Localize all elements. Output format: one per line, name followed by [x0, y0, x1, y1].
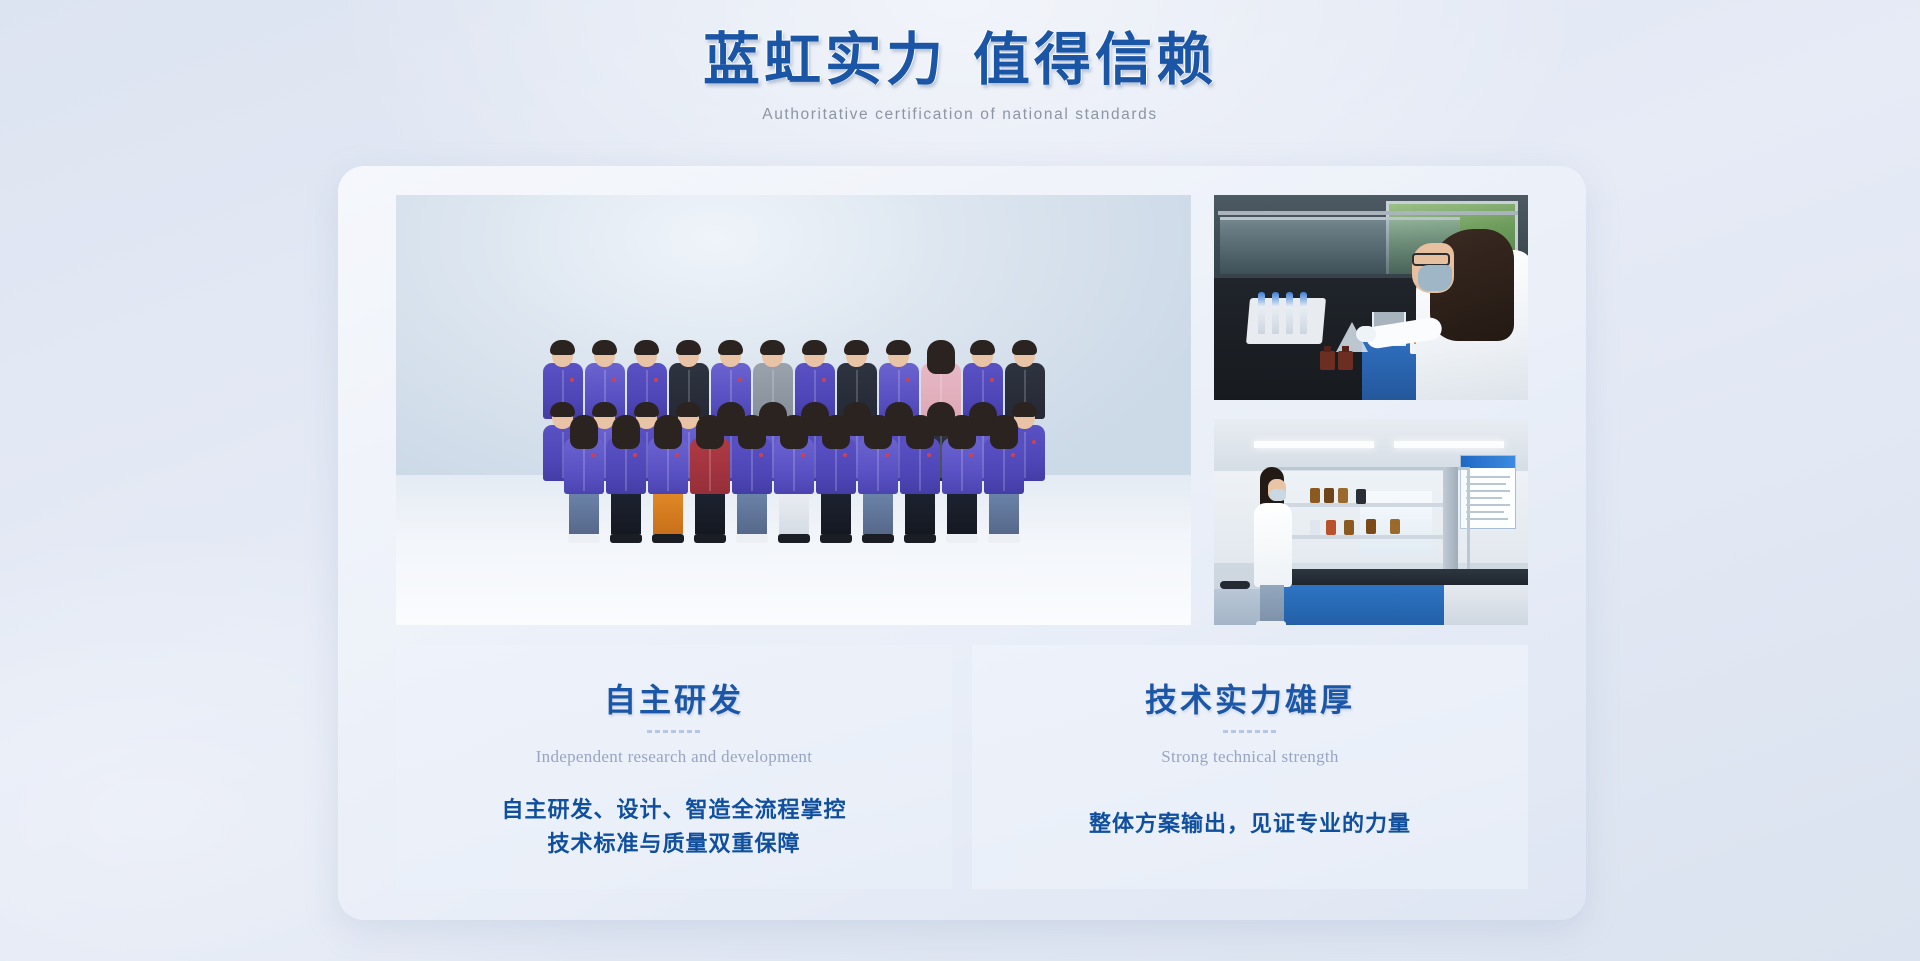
card-body-text: 整体方案输出，见证专业的力量	[972, 807, 1528, 841]
lab-bench	[1256, 569, 1528, 585]
white-cabinets	[1444, 585, 1528, 625]
technician-legs	[1260, 585, 1284, 623]
technician-shoes	[1256, 621, 1286, 625]
group-photo[interactable]	[396, 195, 1191, 625]
reagent-shelf	[1266, 535, 1458, 539]
ceiling-light	[1254, 441, 1374, 448]
card-body-line-2: 技术标准与质量双重保障	[396, 827, 952, 861]
people-row-front	[396, 418, 1191, 543]
reagent-bottle	[1324, 488, 1334, 503]
card-title: 自主研发	[396, 675, 952, 721]
reagent-bottle	[1356, 489, 1366, 504]
pipette	[1258, 292, 1265, 334]
blue-cabinets	[1276, 585, 1444, 625]
technician-hand	[1356, 326, 1376, 342]
lab-photo-column	[1214, 195, 1528, 625]
page-root: 蓝虹实力值得信赖 Authoritative certification of …	[0, 0, 1920, 961]
page-title-part2: 值得信赖	[973, 29, 1217, 92]
hood-post	[1443, 467, 1458, 579]
page-title-part1: 蓝虹实力	[703, 29, 947, 92]
pipette	[1272, 292, 1279, 334]
card-divider-dashes	[1223, 730, 1277, 733]
card-body-line-1: 自主研发、设计、智造全流程掌控	[396, 793, 952, 827]
card-divider-dashes	[647, 730, 701, 733]
reagent-bottle	[1326, 520, 1336, 535]
card-body-line-1: 整体方案输出，见证专业的力量	[972, 807, 1528, 841]
technician-lab-coat	[1254, 503, 1292, 587]
card-english-subtitle: Strong technical strength	[972, 747, 1528, 767]
ceiling-light	[1394, 441, 1504, 448]
lab-photo-bottom[interactable]	[1214, 419, 1528, 625]
card-title: 技术实力雄厚	[972, 675, 1528, 721]
face-mask-icon	[1418, 265, 1452, 291]
reagent-bottle	[1390, 519, 1400, 534]
card-body-text: 自主研发、设计、智造全流程掌控 技术标准与质量双重保障	[396, 793, 952, 861]
reagent-bottle	[1344, 520, 1354, 535]
reagent-bottle	[1366, 519, 1376, 534]
content-panel: 自主研发 Independent research and developmen…	[338, 166, 1586, 920]
face-mask-icon	[1270, 489, 1286, 501]
lab-rail	[1218, 211, 1518, 215]
lab-photo-top[interactable]	[1214, 195, 1528, 400]
group-photo-people	[396, 307, 1191, 537]
page-subtitle: Authoritative certification of national …	[0, 106, 1920, 124]
reagent-bottle	[1310, 488, 1320, 503]
lab-stool	[1220, 581, 1250, 589]
reagent-bottle	[1320, 351, 1335, 370]
reagent-bottle	[1338, 351, 1353, 370]
card-english-subtitle: Independent research and development	[396, 747, 952, 767]
pipette	[1286, 292, 1293, 334]
page-header: 蓝虹实力值得信赖 Authoritative certification of …	[0, 0, 1920, 124]
feature-card-technical-strength[interactable]: 技术实力雄厚 Strong technical strength 整体方案输出，…	[972, 645, 1528, 889]
reagent-bottle	[1338, 488, 1348, 503]
feature-cards: 自主研发 Independent research and developmen…	[396, 645, 1528, 889]
media-gallery	[396, 195, 1528, 625]
lab-technician	[1252, 467, 1292, 625]
feature-card-independent-rd[interactable]: 自主研发 Independent research and developmen…	[396, 645, 952, 889]
pipette	[1300, 292, 1307, 334]
reagent-bottle	[1310, 520, 1320, 535]
page-title: 蓝虹实力值得信赖	[0, 30, 1920, 93]
